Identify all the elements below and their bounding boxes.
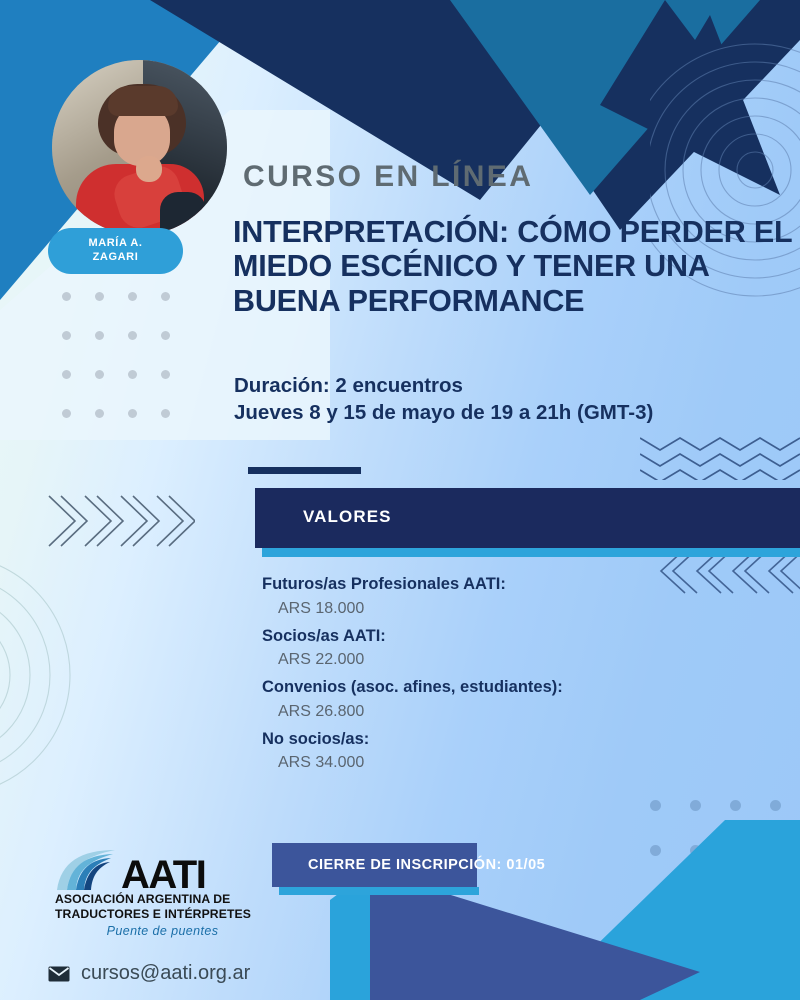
contact-email: cursos@aati.org.ar (81, 962, 250, 985)
avatar-hand (136, 156, 162, 182)
price-row: Convenios (asoc. afines, estudiantes): A… (262, 675, 742, 725)
price-value: ARS 18.000 (262, 597, 742, 622)
price-label: Convenios (asoc. afines, estudiantes): (262, 675, 742, 700)
title-rule (248, 467, 361, 474)
price-label: Futuros/as Profesionales AATI: (262, 572, 742, 597)
page-title: INTERPRETACIÓN: CÓMO PERDER EL MIEDO ESC… (233, 215, 793, 318)
price-list: Futuros/as Profesionales AATI: ARS 18.00… (262, 572, 742, 778)
logo-subtitle-line1: ASOCIACIÓN ARGENTINA DE (55, 892, 270, 907)
aati-bridge-icon (55, 848, 119, 892)
speaker-name-line1: MARÍA A. (88, 237, 142, 249)
logo-tagline: Puente de puentes (55, 924, 270, 938)
course-kicker: CURSO EN LÍNEA (243, 160, 533, 194)
chevrons-right-icon (45, 490, 195, 552)
contact-email-row[interactable]: cursos@aati.org.ar (48, 962, 250, 985)
price-value: ARS 34.000 (262, 751, 742, 776)
price-label: Socios/as AATI: (262, 624, 742, 649)
logo-row: AATI (55, 848, 270, 892)
price-row: Socios/as AATI: ARS 22.000 (262, 624, 742, 674)
aati-logo: AATI ASOCIACIÓN ARGENTINA DE TRADUCTORES… (55, 848, 270, 938)
avatar (52, 60, 227, 235)
speaker-name-badge: MARÍA A. ZAGARI (48, 228, 183, 274)
deadline-banner-underline (279, 887, 479, 895)
speaker-name: MARÍA A. ZAGARI (88, 237, 142, 265)
zigzag-lines-icon (640, 432, 800, 480)
price-row: No socios/as: ARS 34.000 (262, 727, 742, 777)
logo-wordmark: AATI (121, 858, 205, 892)
speaker-photo-wrap (52, 60, 227, 235)
logo-subtitle-line2: TRADUCTORES E INTÉRPRETES (55, 907, 270, 922)
values-banner-underline (262, 548, 800, 557)
course-poster: MARÍA A. ZAGARI CURSO EN LÍNEA INTERPRET… (0, 0, 800, 1000)
speaker-name-line2: ZAGARI (93, 251, 139, 263)
price-value: ARS 22.000 (262, 648, 742, 673)
envelope-icon (48, 966, 70, 982)
deadline-banner: CIERRE DE INSCRIPCIÓN: 01/05 (272, 843, 477, 887)
values-banner: VALORES (255, 488, 800, 548)
course-schedule: Duración: 2 encuentros Jueves 8 y 15 de … (234, 372, 800, 426)
price-row: Futuros/as Profesionales AATI: ARS 18.00… (262, 572, 742, 622)
course-dates: Jueves 8 y 15 de mayo de 19 a 21h (GMT-3… (234, 401, 653, 424)
course-duration: Duración: 2 encuentros (234, 374, 463, 397)
avatar-fringe (108, 86, 178, 116)
price-value: ARS 26.800 (262, 700, 742, 725)
deadline-label: CIERRE DE INSCRIPCIÓN: 01/05 (308, 857, 545, 873)
concentric-rings-secondary-icon (0, 540, 150, 810)
price-label: No socios/as: (262, 727, 742, 752)
values-banner-label: VALORES (303, 507, 392, 527)
